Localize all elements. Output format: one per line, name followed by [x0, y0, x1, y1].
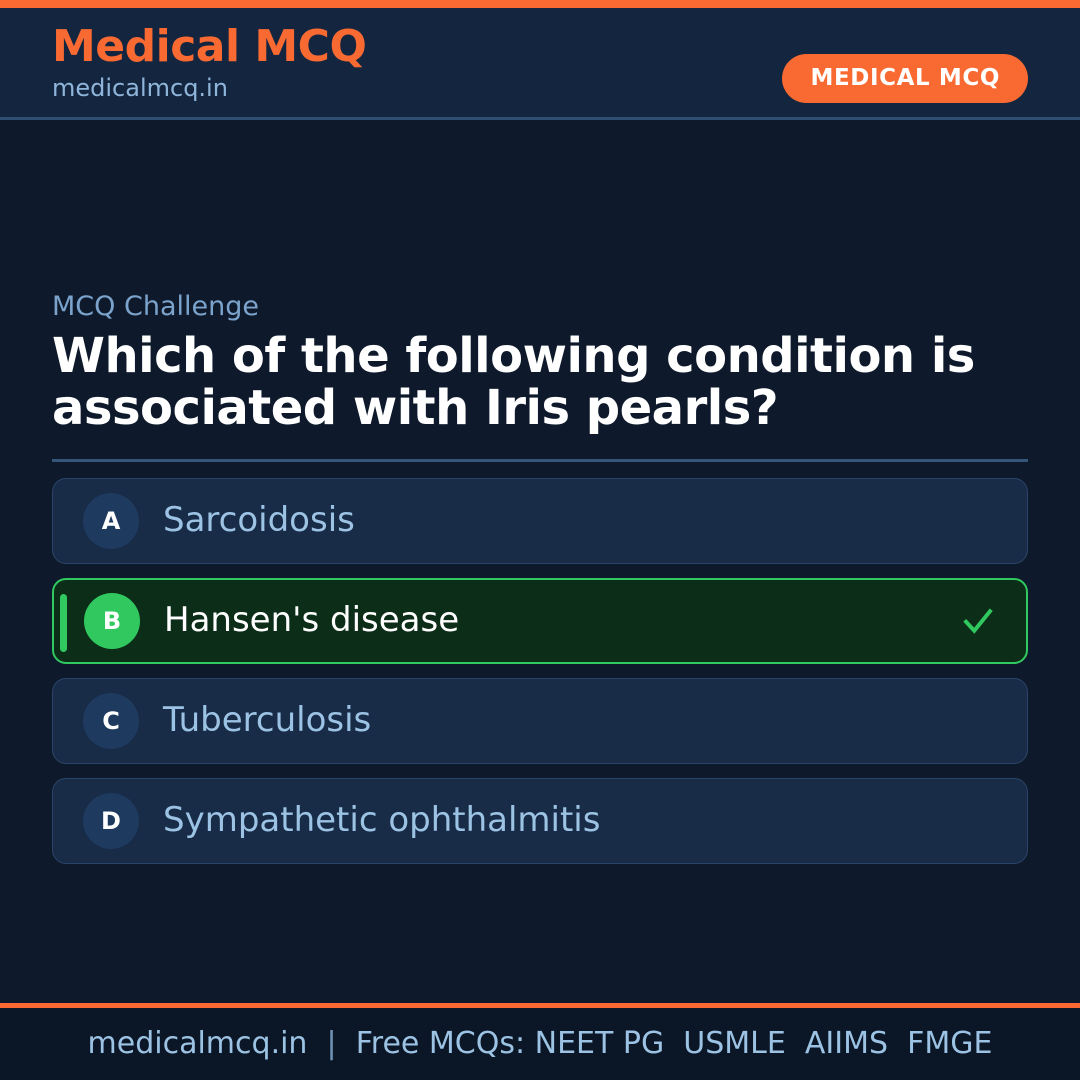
brand-title: Medical MCQ: [52, 24, 366, 70]
option-label-a: Sarcoidosis: [163, 502, 355, 539]
option-c[interactable]: C Tuberculosis: [52, 678, 1028, 764]
option-letter-d: D: [83, 793, 139, 849]
options-list: A Sarcoidosis B Hansen's disease C Tuber…: [52, 478, 1028, 878]
correct-accent-bar: [60, 594, 67, 652]
question-text: Which of the following condition is asso…: [52, 330, 1028, 436]
question-divider: [52, 459, 1028, 462]
option-label-c: Tuberculosis: [163, 702, 371, 739]
question-kicker: MCQ Challenge: [52, 292, 1028, 322]
footer: medicalmcq.in | Free MCQs: NEET PG USMLE…: [0, 1008, 1080, 1080]
option-d[interactable]: D Sympathetic ophthalmitis: [52, 778, 1028, 864]
question-block: MCQ Challenge Which of the following con…: [52, 292, 1028, 462]
footer-tagline: Free MCQs: NEET PG USMLE AIIMS FMGE: [356, 1029, 993, 1059]
option-label-b: Hansen's disease: [164, 602, 459, 639]
footer-site: medicalmcq.in: [88, 1029, 308, 1059]
footer-separator: |: [307, 1029, 355, 1059]
option-label-d: Sympathetic ophthalmitis: [163, 802, 600, 839]
brand: Medical MCQ medicalmcq.in: [52, 24, 366, 103]
option-a[interactable]: A Sarcoidosis: [52, 478, 1028, 564]
option-letter-b: B: [84, 593, 140, 649]
option-letter-a: A: [83, 493, 139, 549]
brand-subtitle: medicalmcq.in: [52, 74, 366, 103]
check-icon: [960, 603, 996, 639]
header-badge: MEDICAL MCQ: [782, 54, 1028, 103]
top-accent-bar: [0, 0, 1080, 8]
mcq-card: Medical MCQ medicalmcq.in MEDICAL MCQ MC…: [0, 0, 1080, 1080]
option-letter-c: C: [83, 693, 139, 749]
header: Medical MCQ medicalmcq.in MEDICAL MCQ: [0, 8, 1080, 120]
option-b[interactable]: B Hansen's disease: [52, 578, 1028, 664]
